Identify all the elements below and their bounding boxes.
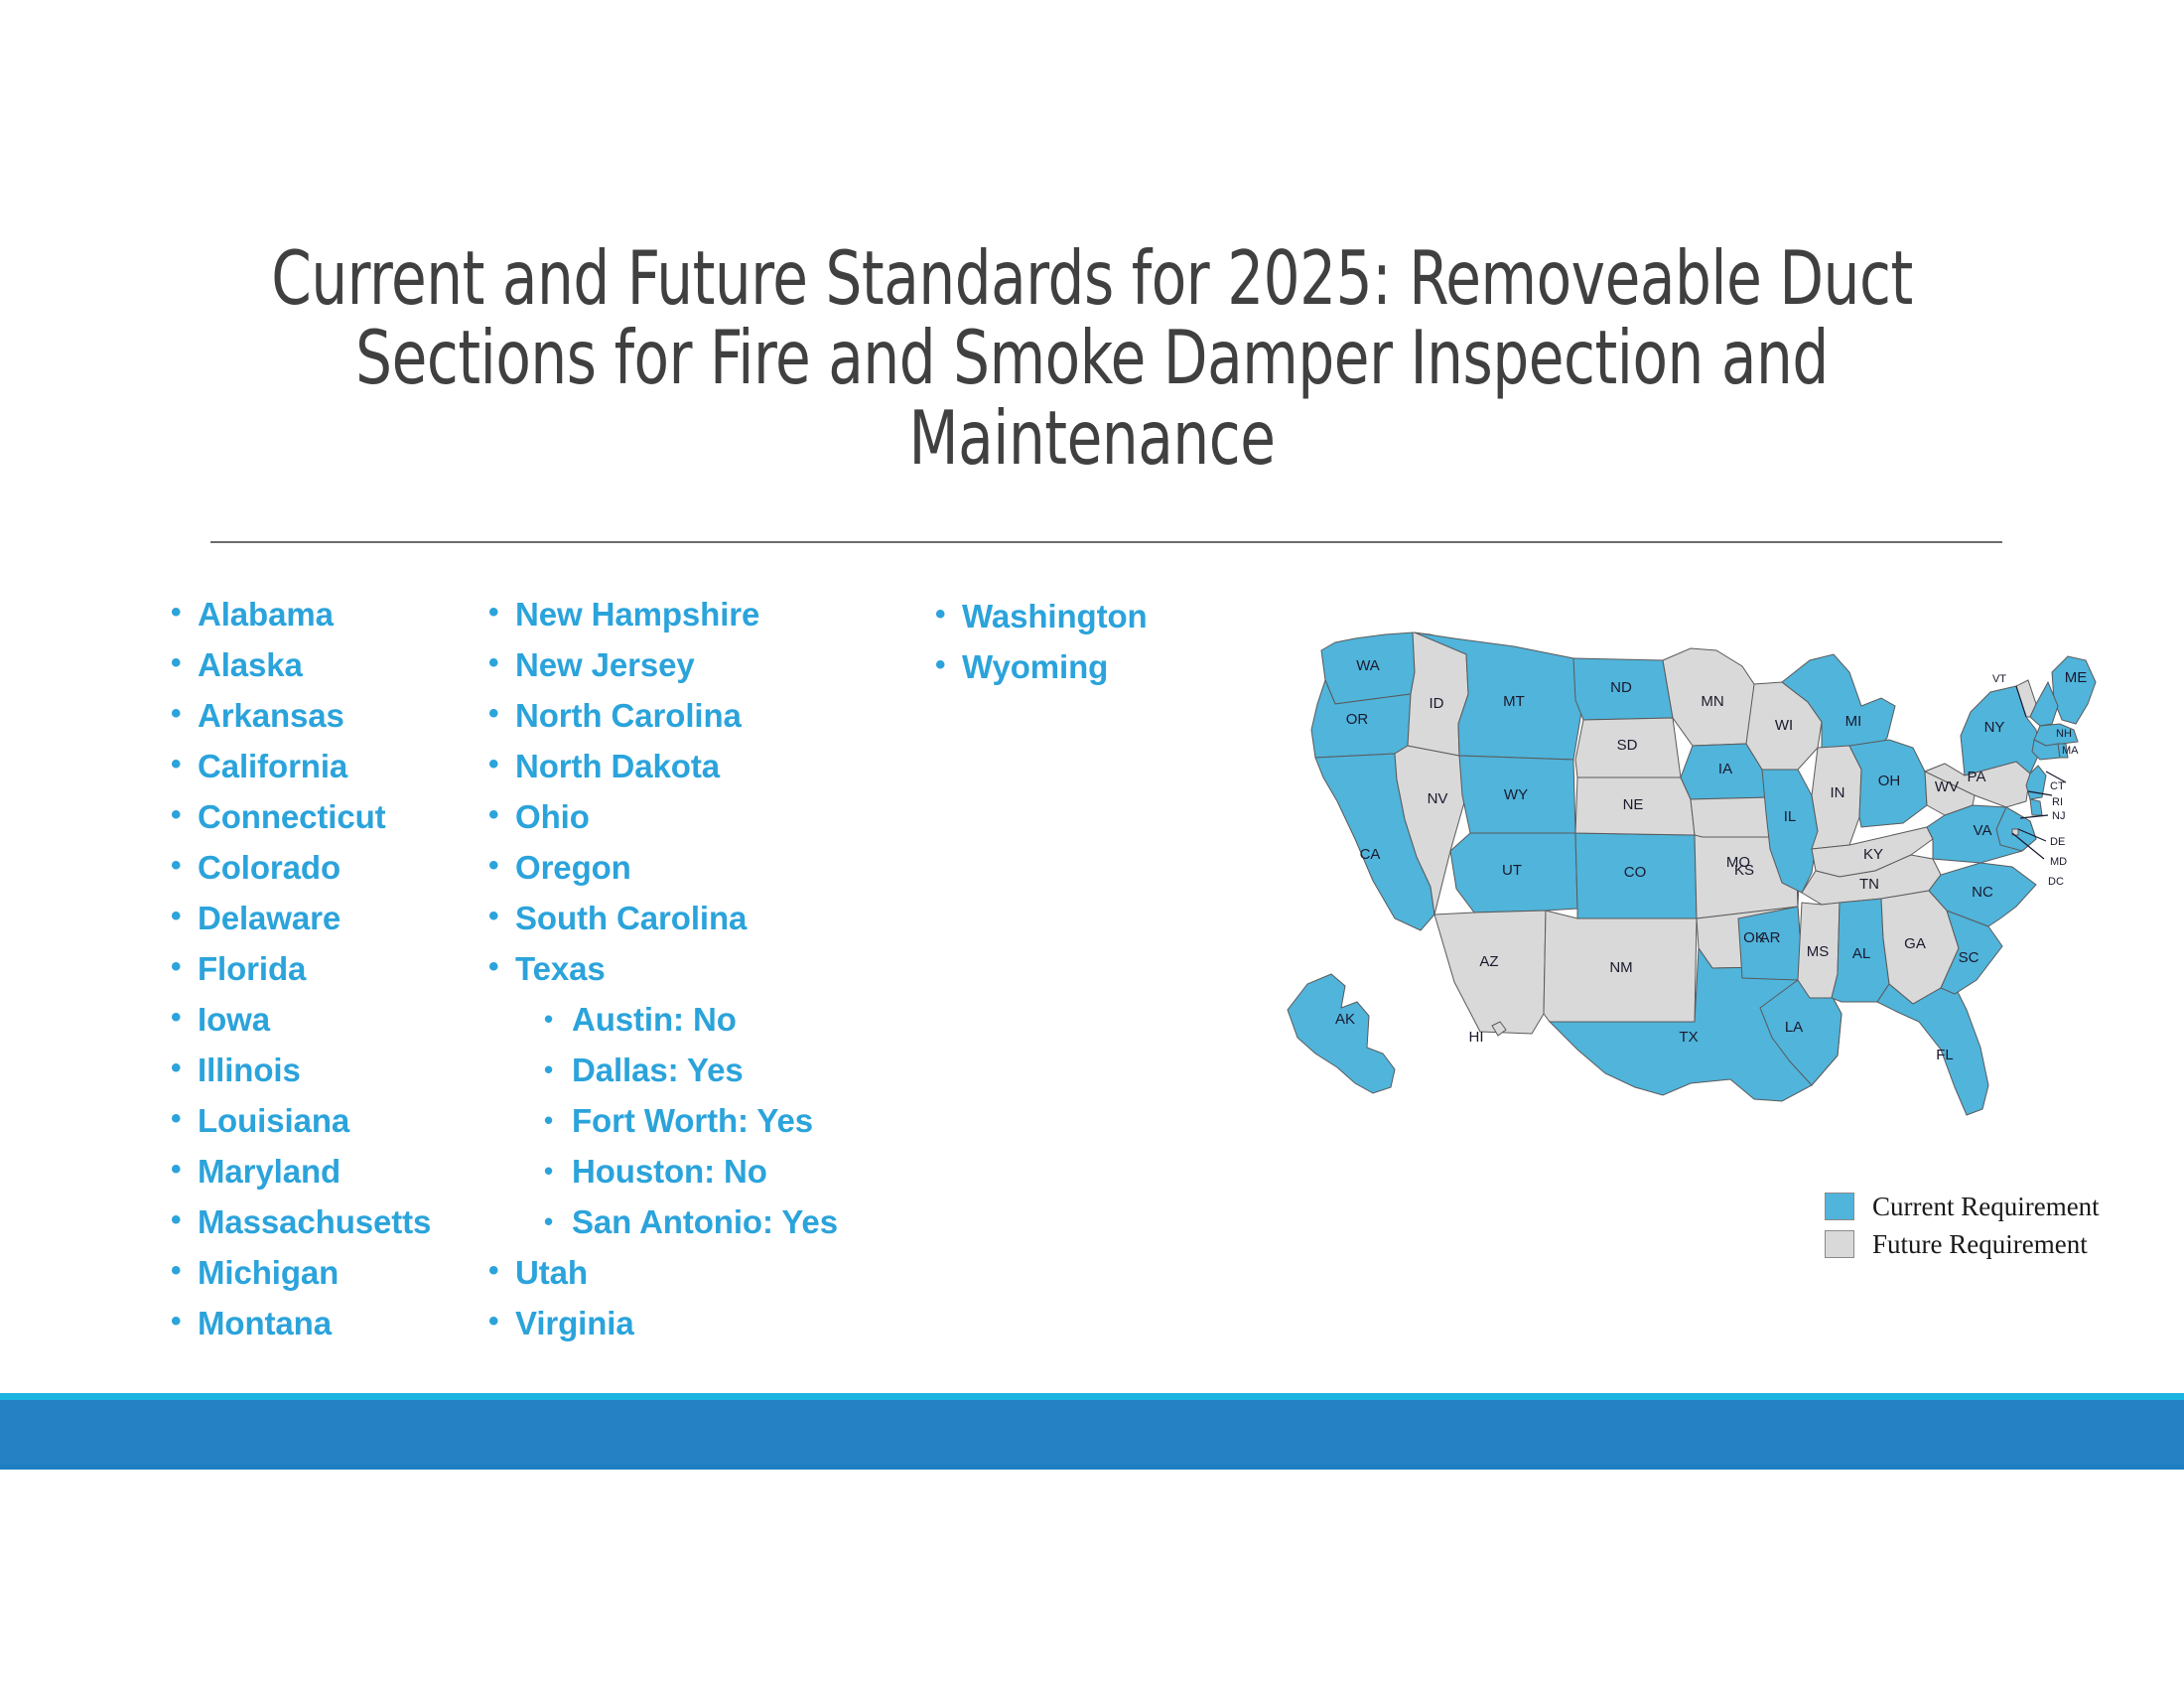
- list-item: •Delaware: [149, 902, 477, 952]
- bullet-dot-icon: •: [467, 851, 515, 881]
- map-state-label-WY: WY: [1504, 786, 1528, 803]
- legend-label: Future Requirement: [1872, 1229, 2088, 1260]
- map-state-label-AZ: AZ: [1479, 953, 1498, 970]
- list-item: •Oregon: [467, 851, 903, 902]
- bullet-dot-icon: •: [149, 800, 198, 830]
- list-item: •Alaska: [149, 648, 477, 699]
- list-item: •San Antonio: Yes: [467, 1205, 903, 1256]
- map-state-label-NV: NV: [1428, 790, 1448, 807]
- bullet-dot-icon: •: [467, 952, 515, 982]
- map-state-label-MT: MT: [1503, 693, 1525, 710]
- bullet-dot-icon: •: [522, 1107, 572, 1133]
- list-item-label: New Jersey: [515, 648, 695, 681]
- map-state-label-SD: SD: [1617, 737, 1638, 754]
- bullet-dot-icon: •: [467, 598, 515, 628]
- list-item-label: San Antonio: Yes: [572, 1205, 838, 1238]
- list-item-label: Illinois: [198, 1054, 301, 1086]
- list-item-label: Washington: [962, 600, 1148, 633]
- bullet-dot-icon: •: [913, 650, 962, 680]
- list-item: •New Jersey: [467, 648, 903, 699]
- list-item: •Washington: [913, 600, 1241, 650]
- list-item-label: South Carolina: [515, 902, 747, 934]
- bullet-dot-icon: •: [149, 1256, 198, 1286]
- bullet-dot-icon: •: [467, 699, 515, 729]
- list-item-label: Connecticut: [198, 800, 386, 833]
- list-item-label: New Hampshire: [515, 598, 759, 631]
- map-state-AZ: [1434, 911, 1546, 1034]
- bullet-dot-icon: •: [149, 750, 198, 779]
- map-state-label-AK: AK: [1335, 1011, 1355, 1028]
- map-state-label-VA: VA: [1974, 822, 1992, 839]
- list-item: •Houston: No: [467, 1155, 903, 1205]
- map-state-DE: [2030, 799, 2042, 815]
- legend-swatch: [1825, 1193, 1854, 1220]
- map-state-AK: [1288, 974, 1395, 1093]
- list-item-label: Alaska: [198, 648, 303, 681]
- map-state-label-ND: ND: [1610, 679, 1632, 696]
- map-state-label-ID: ID: [1430, 695, 1444, 712]
- bullet-dot-icon: •: [149, 1054, 198, 1083]
- map-state-label-MA: MA: [2062, 745, 2079, 757]
- map-state-label-LA: LA: [1785, 1019, 1803, 1036]
- map-state-label-MS: MS: [1807, 943, 1830, 960]
- bullet-dot-icon: •: [149, 952, 198, 982]
- map-state-label-ME: ME: [2065, 669, 2088, 686]
- map-state-label-SC: SC: [1959, 949, 1979, 966]
- list-item-label: Fort Worth: Yes: [572, 1104, 813, 1137]
- state-list-column-2: •New Hampshire•New Jersey•North Carolina…: [467, 598, 903, 1357]
- map-state-label-IN: IN: [1831, 784, 1845, 801]
- list-item-label: North Carolina: [515, 699, 742, 732]
- list-item: •Michigan: [149, 1256, 477, 1307]
- map-state-label-OH: OH: [1878, 773, 1901, 789]
- list-item: •Texas: [467, 952, 903, 1003]
- bullet-dot-icon: •: [149, 598, 198, 628]
- list-item-label: Ohio: [515, 800, 590, 833]
- bullet-dot-icon: •: [149, 1155, 198, 1185]
- list-item: •New Hampshire: [467, 598, 903, 648]
- list-item: •Arkansas: [149, 699, 477, 750]
- bullet-dot-icon: •: [467, 750, 515, 779]
- map-state-label-WV: WV: [1935, 778, 1959, 795]
- state-list-column-3: •Washington•Wyoming: [913, 600, 1241, 701]
- bullet-dot-icon: •: [149, 851, 198, 881]
- bullet-dot-icon: •: [149, 699, 198, 729]
- list-item: •Massachusetts: [149, 1205, 477, 1256]
- us-requirements-map: WAORCANVIDMTWYUTCOAZNMNDSDNEKSOKTXMNIAMO…: [1246, 621, 2129, 1236]
- map-state-label-MN: MN: [1701, 693, 1723, 710]
- map-state-label-CT: CT: [2050, 780, 2065, 792]
- slide-canvas: Current and Future Standards for 2025: R…: [0, 0, 2184, 1688]
- legend-label: Current Requirement: [1872, 1192, 2100, 1222]
- list-item-label: Michigan: [198, 1256, 339, 1289]
- bullet-dot-icon: •: [467, 1256, 515, 1286]
- list-item-label: Arkansas: [198, 699, 344, 732]
- bullet-dot-icon: •: [467, 800, 515, 830]
- map-state-label-VT: VT: [1992, 673, 2006, 685]
- footer-bar-edge: [0, 1465, 2184, 1470]
- list-item: •North Carolina: [467, 699, 903, 750]
- state-list-column-1: •Alabama•Alaska•Arkansas•California•Conn…: [149, 598, 477, 1357]
- list-item: •Iowa: [149, 1003, 477, 1054]
- list-item: •Virginia: [467, 1307, 903, 1357]
- map-state-label-TN: TN: [1859, 876, 1879, 893]
- footer-bar: [0, 1400, 2184, 1465]
- list-item-label: Houston: No: [572, 1155, 767, 1188]
- bullet-dot-icon: •: [149, 648, 198, 678]
- bullet-dot-icon: •: [522, 1158, 572, 1184]
- list-item-label: Alabama: [198, 598, 334, 631]
- map-state-label-NE: NE: [1623, 796, 1644, 813]
- list-item: •Connecticut: [149, 800, 477, 851]
- map-state-label-CO: CO: [1624, 864, 1647, 881]
- us-map-svg: WAORCANVIDMTWYUTCOAZNMNDSDNEKSOKTXMNIAMO…: [1246, 621, 2129, 1137]
- map-state-label-MO: MO: [1726, 854, 1750, 871]
- bullet-dot-icon: •: [913, 600, 962, 630]
- list-item-label: Louisiana: [198, 1104, 349, 1137]
- map-state-label-NC: NC: [1972, 884, 1993, 901]
- list-item-label: Montana: [198, 1307, 332, 1339]
- bullet-dot-icon: •: [522, 1056, 572, 1082]
- list-item-label: Colorado: [198, 851, 341, 884]
- bullet-dot-icon: •: [149, 1205, 198, 1235]
- map-state-label-NY: NY: [1984, 719, 2005, 736]
- list-item-label: Texas: [515, 952, 606, 985]
- map-state-label-NJ: NJ: [2052, 810, 2065, 822]
- bullet-dot-icon: •: [522, 1208, 572, 1234]
- map-state-label-NM: NM: [1609, 959, 1632, 976]
- list-item-label: Iowa: [198, 1003, 270, 1036]
- bullet-dot-icon: •: [149, 1104, 198, 1134]
- map-state-label-WI: WI: [1775, 717, 1793, 734]
- list-item: •Montana: [149, 1307, 477, 1357]
- map-state-label-WA: WA: [1356, 657, 1380, 674]
- legend-swatch: [1825, 1230, 1854, 1258]
- list-item: •Wyoming: [913, 650, 1241, 701]
- list-item: •Colorado: [149, 851, 477, 902]
- map-state-label-PA: PA: [1968, 769, 1986, 785]
- map-legend: Current RequirementFuture Requirement: [1825, 1188, 2122, 1263]
- list-item-label: Maryland: [198, 1155, 341, 1188]
- map-state-label-AR: AR: [1760, 929, 1781, 946]
- list-item-label: Austin: No: [572, 1003, 737, 1036]
- map-state-label-AL: AL: [1852, 945, 1870, 962]
- bullet-dot-icon: •: [522, 1006, 572, 1032]
- list-item: •Utah: [467, 1256, 903, 1307]
- list-item-label: Massachusetts: [198, 1205, 431, 1238]
- list-item-label: Utah: [515, 1256, 588, 1289]
- map-state-label-HI: HI: [1469, 1029, 1484, 1046]
- map-state-label-MD: MD: [2050, 856, 2067, 868]
- bullet-dot-icon: •: [467, 1307, 515, 1336]
- map-state-label-IA: IA: [1718, 761, 1732, 777]
- list-item-label: Dallas: Yes: [572, 1054, 744, 1086]
- title-divider: [210, 541, 2002, 543]
- bullet-dot-icon: •: [149, 1003, 198, 1033]
- bullet-dot-icon: •: [149, 902, 198, 931]
- list-item: •Illinois: [149, 1054, 477, 1104]
- list-item: •Austin: No: [467, 1003, 903, 1054]
- page-title-block: Current and Future Standards for 2025: R…: [60, 238, 2124, 478]
- map-state-label-IL: IL: [1784, 808, 1797, 825]
- list-item: •Louisiana: [149, 1104, 477, 1155]
- list-item-label: Wyoming: [962, 650, 1108, 683]
- map-state-label-RI: RI: [2052, 796, 2063, 808]
- map-state-label-KY: KY: [1863, 846, 1883, 863]
- page-title: Current and Future Standards for 2025: R…: [205, 238, 1980, 478]
- list-item-label: Oregon: [515, 851, 631, 884]
- list-item-label: Delaware: [198, 902, 341, 934]
- list-item: •Maryland: [149, 1155, 477, 1205]
- list-item: •California: [149, 750, 477, 800]
- list-item-label: Virginia: [515, 1307, 634, 1339]
- map-state-label-TX: TX: [1679, 1029, 1698, 1046]
- list-item: •Ohio: [467, 800, 903, 851]
- list-item-label: California: [198, 750, 347, 782]
- map-state-label-DC: DC: [2048, 876, 2064, 888]
- map-state-FL: [1877, 984, 1988, 1115]
- legend-item: Future Requirement: [1825, 1225, 2122, 1263]
- legend-item: Current Requirement: [1825, 1188, 2122, 1225]
- map-state-label-DE: DE: [2050, 836, 2065, 848]
- bullet-dot-icon: •: [467, 648, 515, 678]
- map-state-label-CA: CA: [1360, 846, 1381, 863]
- bullet-dot-icon: •: [467, 902, 515, 931]
- list-item: •Dallas: Yes: [467, 1054, 903, 1104]
- map-state-label-GA: GA: [1904, 935, 1926, 952]
- list-item-label: Florida: [198, 952, 306, 985]
- map-state-ME: [2052, 656, 2096, 724]
- list-item-label: North Dakota: [515, 750, 720, 782]
- map-state-label-MI: MI: [1845, 713, 1862, 730]
- list-item: •Alabama: [149, 598, 477, 648]
- map-state-label-UT: UT: [1502, 862, 1522, 879]
- map-state-label-NH: NH: [2056, 728, 2072, 740]
- list-item: •North Dakota: [467, 750, 903, 800]
- map-state-label-OR: OR: [1346, 711, 1369, 728]
- bullet-dot-icon: •: [149, 1307, 198, 1336]
- map-state-label-FL: FL: [1936, 1047, 1954, 1063]
- list-item: •South Carolina: [467, 902, 903, 952]
- list-item: •Florida: [149, 952, 477, 1003]
- list-item: •Fort Worth: Yes: [467, 1104, 903, 1155]
